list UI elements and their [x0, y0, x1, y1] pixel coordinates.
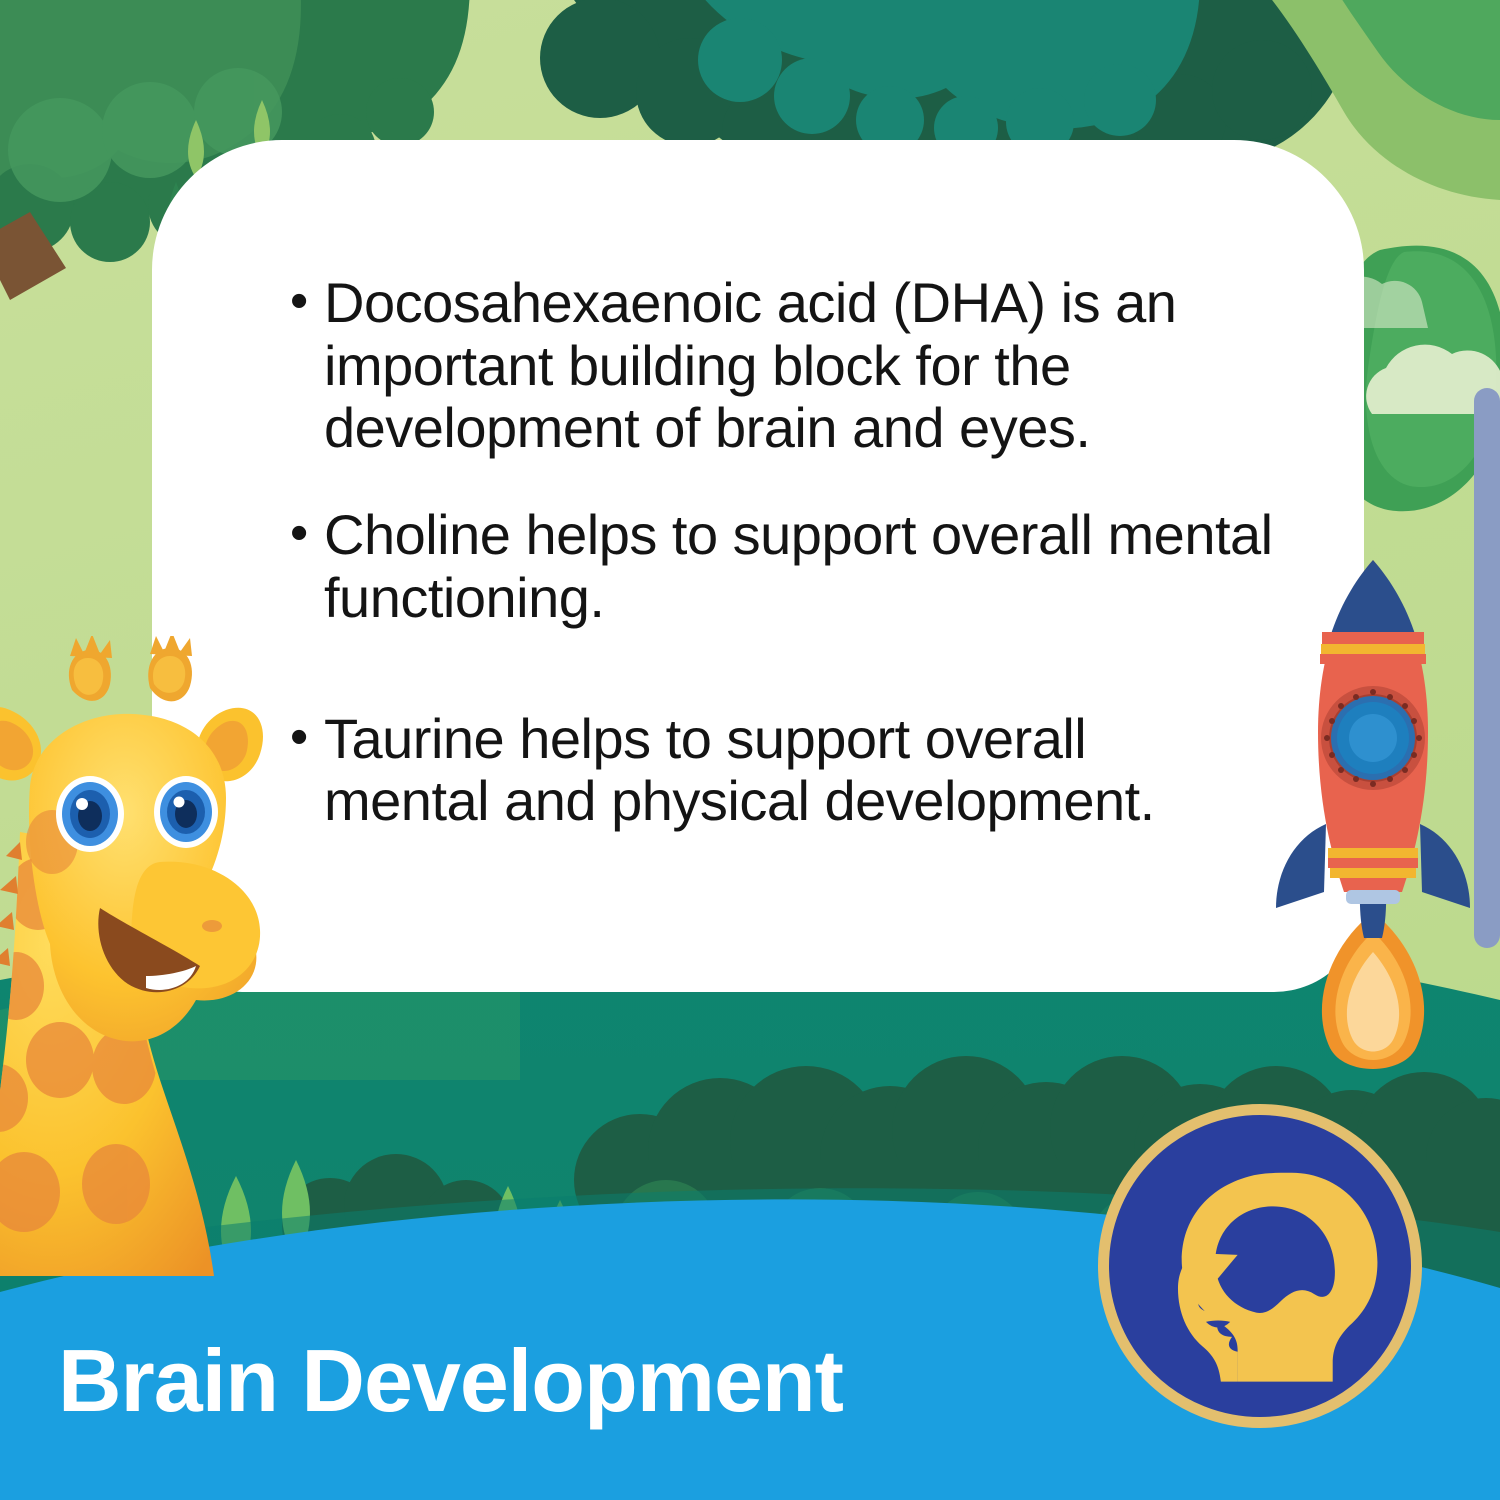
head-brain-icon: [1109, 1115, 1411, 1417]
brain-badge: [1098, 1104, 1422, 1428]
page-title: Brain Development: [58, 1330, 843, 1432]
list-item: • Choline helps to support overall menta…: [290, 504, 1340, 629]
rocket-fin-left: [1276, 824, 1326, 908]
bullet-text: Docosahexaenoic acid (DHA) is an importa…: [324, 272, 1250, 460]
rocket-icon: [1268, 556, 1478, 1076]
bullet-marker-icon: •: [290, 272, 324, 330]
giraffe-eye-left: [56, 776, 124, 852]
list-item: • Docosahexaenoic acid (DHA) is an impor…: [290, 272, 1250, 460]
bullet-text: Choline helps to support overall mental …: [324, 504, 1340, 629]
rocket-fin-right: [1420, 824, 1470, 908]
bullet-marker-icon: •: [290, 708, 324, 766]
bullet-marker-icon: •: [290, 504, 324, 562]
bullet-text: Taurine helps to support overall mental …: [324, 708, 1210, 833]
bullet-list: • Docosahexaenoic acid (DHA) is an impor…: [290, 272, 1350, 833]
spacer: [290, 674, 1350, 708]
giraffe-icon: [0, 636, 284, 1276]
list-item: • Taurine helps to support overall menta…: [290, 708, 1210, 833]
slide-canvas: • Docosahexaenoic acid (DHA) is an impor…: [0, 0, 1500, 1500]
giraffe-eye-right: [154, 776, 218, 848]
